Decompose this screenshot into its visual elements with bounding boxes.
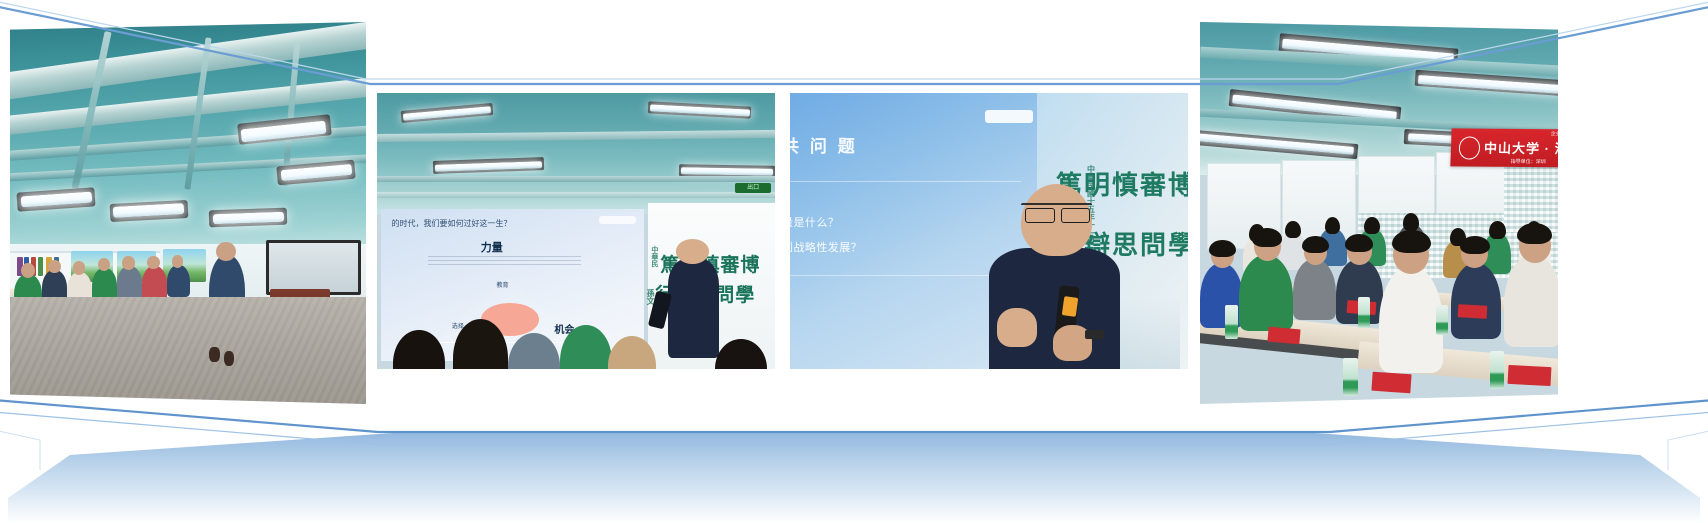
- speaker-body: [668, 259, 720, 358]
- eyeglasses-right-lens: [1061, 208, 1091, 224]
- water-bottle: [1358, 297, 1370, 328]
- attendee-head: [1325, 217, 1341, 235]
- presenter-head: [216, 242, 236, 261]
- gallery-photo-speaker-closeup[interactable]: 共 问 题 量是什么？ 到战略性发展？ 篤明慎審博 行辯思問學 中華民國十五年十…: [790, 93, 1188, 369]
- exit-sign-icon: 出口: [735, 183, 771, 193]
- water-bottle: [1343, 358, 1357, 396]
- attendee-head: [1403, 213, 1419, 231]
- photo-scene-left: [10, 22, 366, 404]
- frame-line-outer-left: [0, 430, 40, 470]
- slide-logo-icon: [985, 110, 1033, 124]
- attendee-hair: [1345, 234, 1373, 252]
- photo-scene-right: 中山大学 · 深圳 企业家培 指导单位：深圳: [1200, 22, 1558, 404]
- ceiling-beam: [377, 176, 775, 183]
- calligraphy-side: 中華民: [649, 246, 659, 267]
- presenter-shoe: [209, 347, 220, 362]
- photo-scene-center: 共 问 题 量是什么？ 到战略性发展？ 篤明慎審博 行辯思問學 中華民國十五年十…: [790, 93, 1188, 369]
- floor-trapezoid: [8, 432, 1700, 523]
- attendee-head: [21, 263, 35, 278]
- attendee: [1293, 259, 1336, 320]
- attendee-hair: [1302, 236, 1328, 253]
- gallery-photo-lecture-slide[interactable]: 出口 的时代，我们要如何过好这一生？ 力量 机会 教育 选择 篤明慎審博 行辯思…: [377, 93, 775, 369]
- gallery-photo-classroom-wide[interactable]: [10, 22, 366, 404]
- attendee-hair: [1252, 228, 1282, 246]
- attendee-hair: [1209, 240, 1235, 257]
- presenter-shoe: [224, 351, 235, 366]
- photo-gallery-banner: 出口 的时代，我们要如何过好这一生？ 力量 机会 教育 选择 篤明慎審博 行辯思…: [0, 0, 1708, 523]
- slide-line-1: 量是什么？: [790, 214, 839, 230]
- water-bottle: [1490, 351, 1504, 389]
- attendee: [1504, 255, 1558, 347]
- attendee-white-shirt: [1379, 266, 1443, 373]
- microphone-flag: [1062, 296, 1078, 317]
- attendee-hair: [1517, 223, 1552, 244]
- name-card: [1267, 326, 1300, 344]
- photo-scene-mid-left: 出口 的时代，我们要如何过好这一生？ 力量 机会 教育 选择 篤明慎審博 行辯思…: [377, 93, 775, 369]
- attendee-head: [73, 261, 86, 275]
- slide-line-2: 到战略性发展？: [790, 239, 862, 255]
- banner-title: 中山大学 · 深圳: [1483, 138, 1558, 158]
- book: [38, 257, 43, 276]
- banner-sub-text: 指导单位：深圳: [1510, 158, 1545, 165]
- water-bottle: [1225, 305, 1238, 339]
- attendee-head: [48, 260, 61, 274]
- attendee: [167, 265, 190, 297]
- university-seal-icon: [1458, 137, 1480, 160]
- slide-divider: [790, 181, 1021, 182]
- eyeglasses-left-lens: [1025, 208, 1055, 224]
- whiteboard: [266, 240, 361, 296]
- slide-body-text: [428, 253, 580, 265]
- slide-heading: 共 问 题: [790, 132, 858, 157]
- attendee-head: [1285, 221, 1301, 239]
- attendee-head: [172, 255, 184, 268]
- ceiling-beam: [377, 192, 775, 198]
- attendee-head: [122, 256, 134, 269]
- floor-area: [10, 297, 366, 404]
- frame-line-bottom: [0, 400, 1708, 432]
- gallery-photo-audience-seated[interactable]: 中山大学 · 深圳 企业家培 指导单位：深圳: [1200, 22, 1558, 404]
- speaker-hand: [997, 308, 1037, 347]
- slide-label-education: 教育: [497, 280, 509, 289]
- event-banner: 中山大学 · 深圳 企业家培 指导单位：深圳: [1450, 128, 1558, 167]
- attendee-head: [147, 256, 159, 269]
- frame-line-outer-right: [1668, 430, 1708, 470]
- slide-logo-icon: [599, 216, 636, 224]
- frame-line-bottom-soft: [0, 412, 1708, 445]
- name-card: [1507, 365, 1551, 386]
- attendee-hair: [1392, 230, 1431, 253]
- attendee-head: [1489, 221, 1505, 239]
- slide-heading: 的时代，我们要如何过好这一生？: [391, 218, 633, 229]
- name-card: [1371, 372, 1412, 394]
- slide-divider: [790, 275, 1013, 276]
- attendee: [142, 266, 167, 300]
- attendee-green-polo: [1239, 255, 1293, 331]
- name-card: [1457, 304, 1486, 318]
- attendee: [117, 266, 142, 300]
- banner-top-text: 企业家培: [1550, 130, 1558, 137]
- wristwatch: [1085, 330, 1105, 338]
- speaker-head: [676, 239, 710, 264]
- water-bottle: [1436, 305, 1448, 336]
- attendee-head: [1364, 217, 1380, 235]
- attendee-hair: [1460, 236, 1490, 254]
- attendee: [1451, 263, 1501, 339]
